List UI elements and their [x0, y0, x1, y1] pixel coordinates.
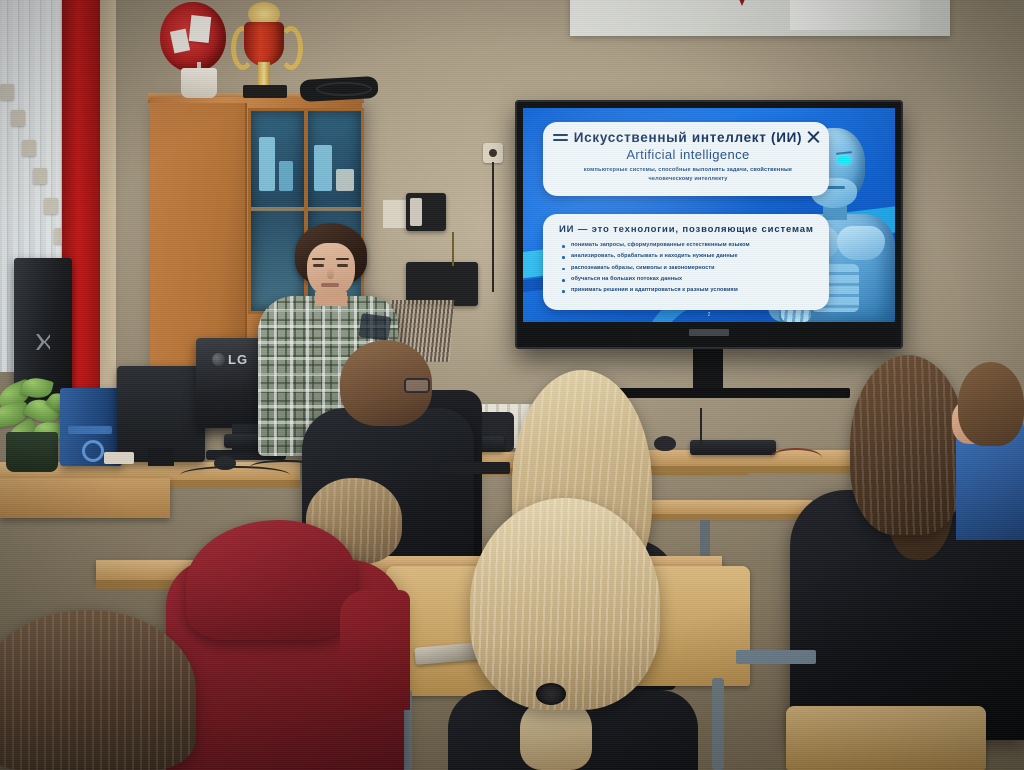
classroom-photo: Искусственный интеллект (ИИ) Artificial … — [0, 0, 1024, 770]
monitor-neck — [148, 448, 174, 466]
student-arm — [340, 590, 410, 710]
chair-frame — [712, 678, 724, 770]
flower-pot — [181, 68, 217, 98]
display-brand-logo — [689, 329, 729, 336]
slide-title-card: Искусственный интеллект (ИИ) Artificial … — [543, 122, 829, 196]
hair-tie — [536, 683, 566, 705]
desk-item — [104, 452, 134, 464]
display-stand-foot — [600, 388, 850, 398]
chair-seatback[interactable] — [786, 706, 986, 770]
list-item: обучаться на больших потоках данных — [561, 276, 821, 284]
power-cable — [492, 162, 494, 292]
hanging-cable — [700, 408, 732, 450]
mouse[interactable] — [654, 436, 676, 451]
student-hair — [850, 355, 966, 535]
slide-title-ru: Искусственный интеллект (ИИ) — [573, 130, 803, 145]
lg-badge-icon — [212, 353, 225, 366]
list-item: принимать решения и адаптироваться к раз… — [561, 287, 821, 295]
close-icon[interactable] — [806, 130, 821, 145]
display-stand-neck — [693, 349, 723, 391]
wall-socket[interactable] — [483, 143, 503, 163]
slide-section-heading: ИИ — это технологии, позволяющие система… — [559, 224, 819, 235]
wall-display[interactable]: Искусственный интеллект (ИИ) Artificial … — [515, 100, 903, 349]
hamburger-icon — [553, 134, 570, 145]
cable — [770, 448, 822, 468]
student-hair — [958, 362, 1024, 446]
list-item: распознавать образы, символы и закономер… — [561, 265, 821, 273]
student-ponytail — [520, 700, 592, 770]
presenter-nose — [327, 268, 334, 279]
flower-card — [189, 15, 212, 43]
desk-object — [736, 650, 816, 664]
switch-label — [410, 198, 422, 226]
slide-definition: компьютерные системы, способные выполнят… — [565, 166, 811, 183]
poster-glare — [790, 0, 920, 30]
laptop[interactable] — [440, 462, 510, 474]
slide-body-card: ИИ — это технологии, позволяющие система… — [543, 214, 829, 310]
desk-left-surface — [0, 478, 170, 518]
trophy-base — [243, 85, 287, 98]
list-item: анализировать, обрабатывать и находить н… — [561, 253, 821, 261]
wall-corner — [100, 0, 116, 430]
slide-bullet-list: понимать запросы, сформулированные естес… — [561, 242, 821, 299]
cable-loop — [316, 82, 372, 96]
lg-wordmark: LG — [228, 352, 248, 367]
list-item: понимать запросы, сформулированные естес… — [561, 242, 821, 250]
patch-cable — [452, 232, 454, 266]
presenter-pocket — [358, 313, 391, 341]
presenter-mouth — [321, 283, 339, 287]
cabinet-glass-door-left[interactable] — [248, 108, 307, 314]
slide-page-number: 2 — [708, 312, 711, 318]
slide-title-en: Artificial intelligence — [567, 147, 809, 162]
glasses — [404, 378, 430, 393]
trophy-cup — [244, 22, 284, 66]
plant-pot — [6, 432, 58, 472]
presentation-screen[interactable]: Искусственный интеллект (ИИ) Artificial … — [523, 108, 895, 322]
student-hair — [470, 498, 660, 710]
